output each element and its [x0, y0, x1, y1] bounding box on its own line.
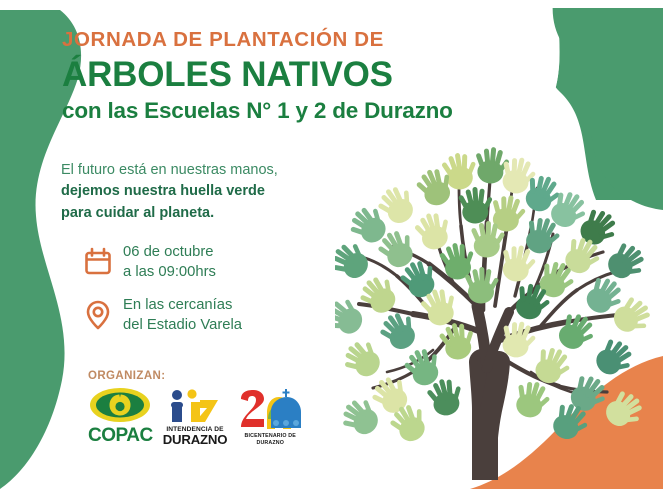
event-date-text: 06 de octubre a las 09:00hrs [123, 243, 216, 282]
event-date-line-1: 06 de octubre [123, 243, 216, 263]
organizer-logo-row: COPAC INTENDENCIA DE DURAZNO [88, 386, 338, 447]
headline-kicker: JORNADA DE PLANTACIÓN DE [62, 28, 532, 52]
tagline-line-2: dejemos nuestra huella verde [61, 181, 361, 202]
bicentenario-logo-line-1: BICENTENARIO DE [245, 433, 296, 440]
bicentenario-durazno-logo: BICENTENARIO DE DURAZNO [237, 389, 303, 447]
headline-subtitle: con las Escuelas N° 1 y 2 de Durazno [62, 98, 532, 124]
bicentenario-logo-line-2: DURAZNO [245, 440, 296, 447]
intendencia-durazno-mark-icon [167, 388, 223, 426]
location-pin-icon [84, 298, 112, 332]
copac-eye-icon [89, 386, 151, 424]
copac-logo-text: COPAC [88, 425, 153, 447]
intendencia-logo-line-2: DURAZNO [163, 433, 228, 447]
tagline-block: El futuro está en nuestras manos, dejemo… [61, 160, 361, 224]
event-location-row: En las cercanías del Estadio Varela [84, 296, 364, 335]
tagline-line-1: El futuro está en nuestras manos, [61, 160, 361, 181]
poster-canvas: JORNADA DE PLANTACIÓN DE ÁRBOLES NATIVOS… [0, 0, 663, 497]
headline-title: ÁRBOLES NATIVOS [62, 55, 532, 94]
bicentenario-durazno-mark-icon [237, 389, 303, 431]
event-details-block: 06 de octubre a las 09:00hrs En las cerc… [84, 243, 364, 350]
tagline-line-3: para cuidar al planeta. [61, 203, 361, 224]
intendencia-durazno-logo: INTENDENCIA DE DURAZNO [163, 388, 228, 447]
event-date-line-2: a las 09:00hrs [123, 263, 216, 283]
event-location-text: En las cercanías del Estadio Varela [123, 296, 242, 335]
event-location-line-1: En las cercanías [123, 296, 242, 316]
organizan-label: ORGANIZAN: [88, 370, 338, 382]
copac-logo: COPAC [88, 386, 153, 447]
event-date-row: 06 de octubre a las 09:00hrs [84, 243, 364, 282]
headline-block: JORNADA DE PLANTACIÓN DE ÁRBOLES NATIVOS… [62, 28, 532, 124]
bicentenario-logo-text: BICENTENARIO DE DURAZNO [245, 433, 296, 447]
organizers-block: ORGANIZAN: COPAC [88, 370, 338, 447]
calendar-icon [84, 245, 112, 279]
event-location-line-2: del Estadio Varela [123, 316, 242, 336]
